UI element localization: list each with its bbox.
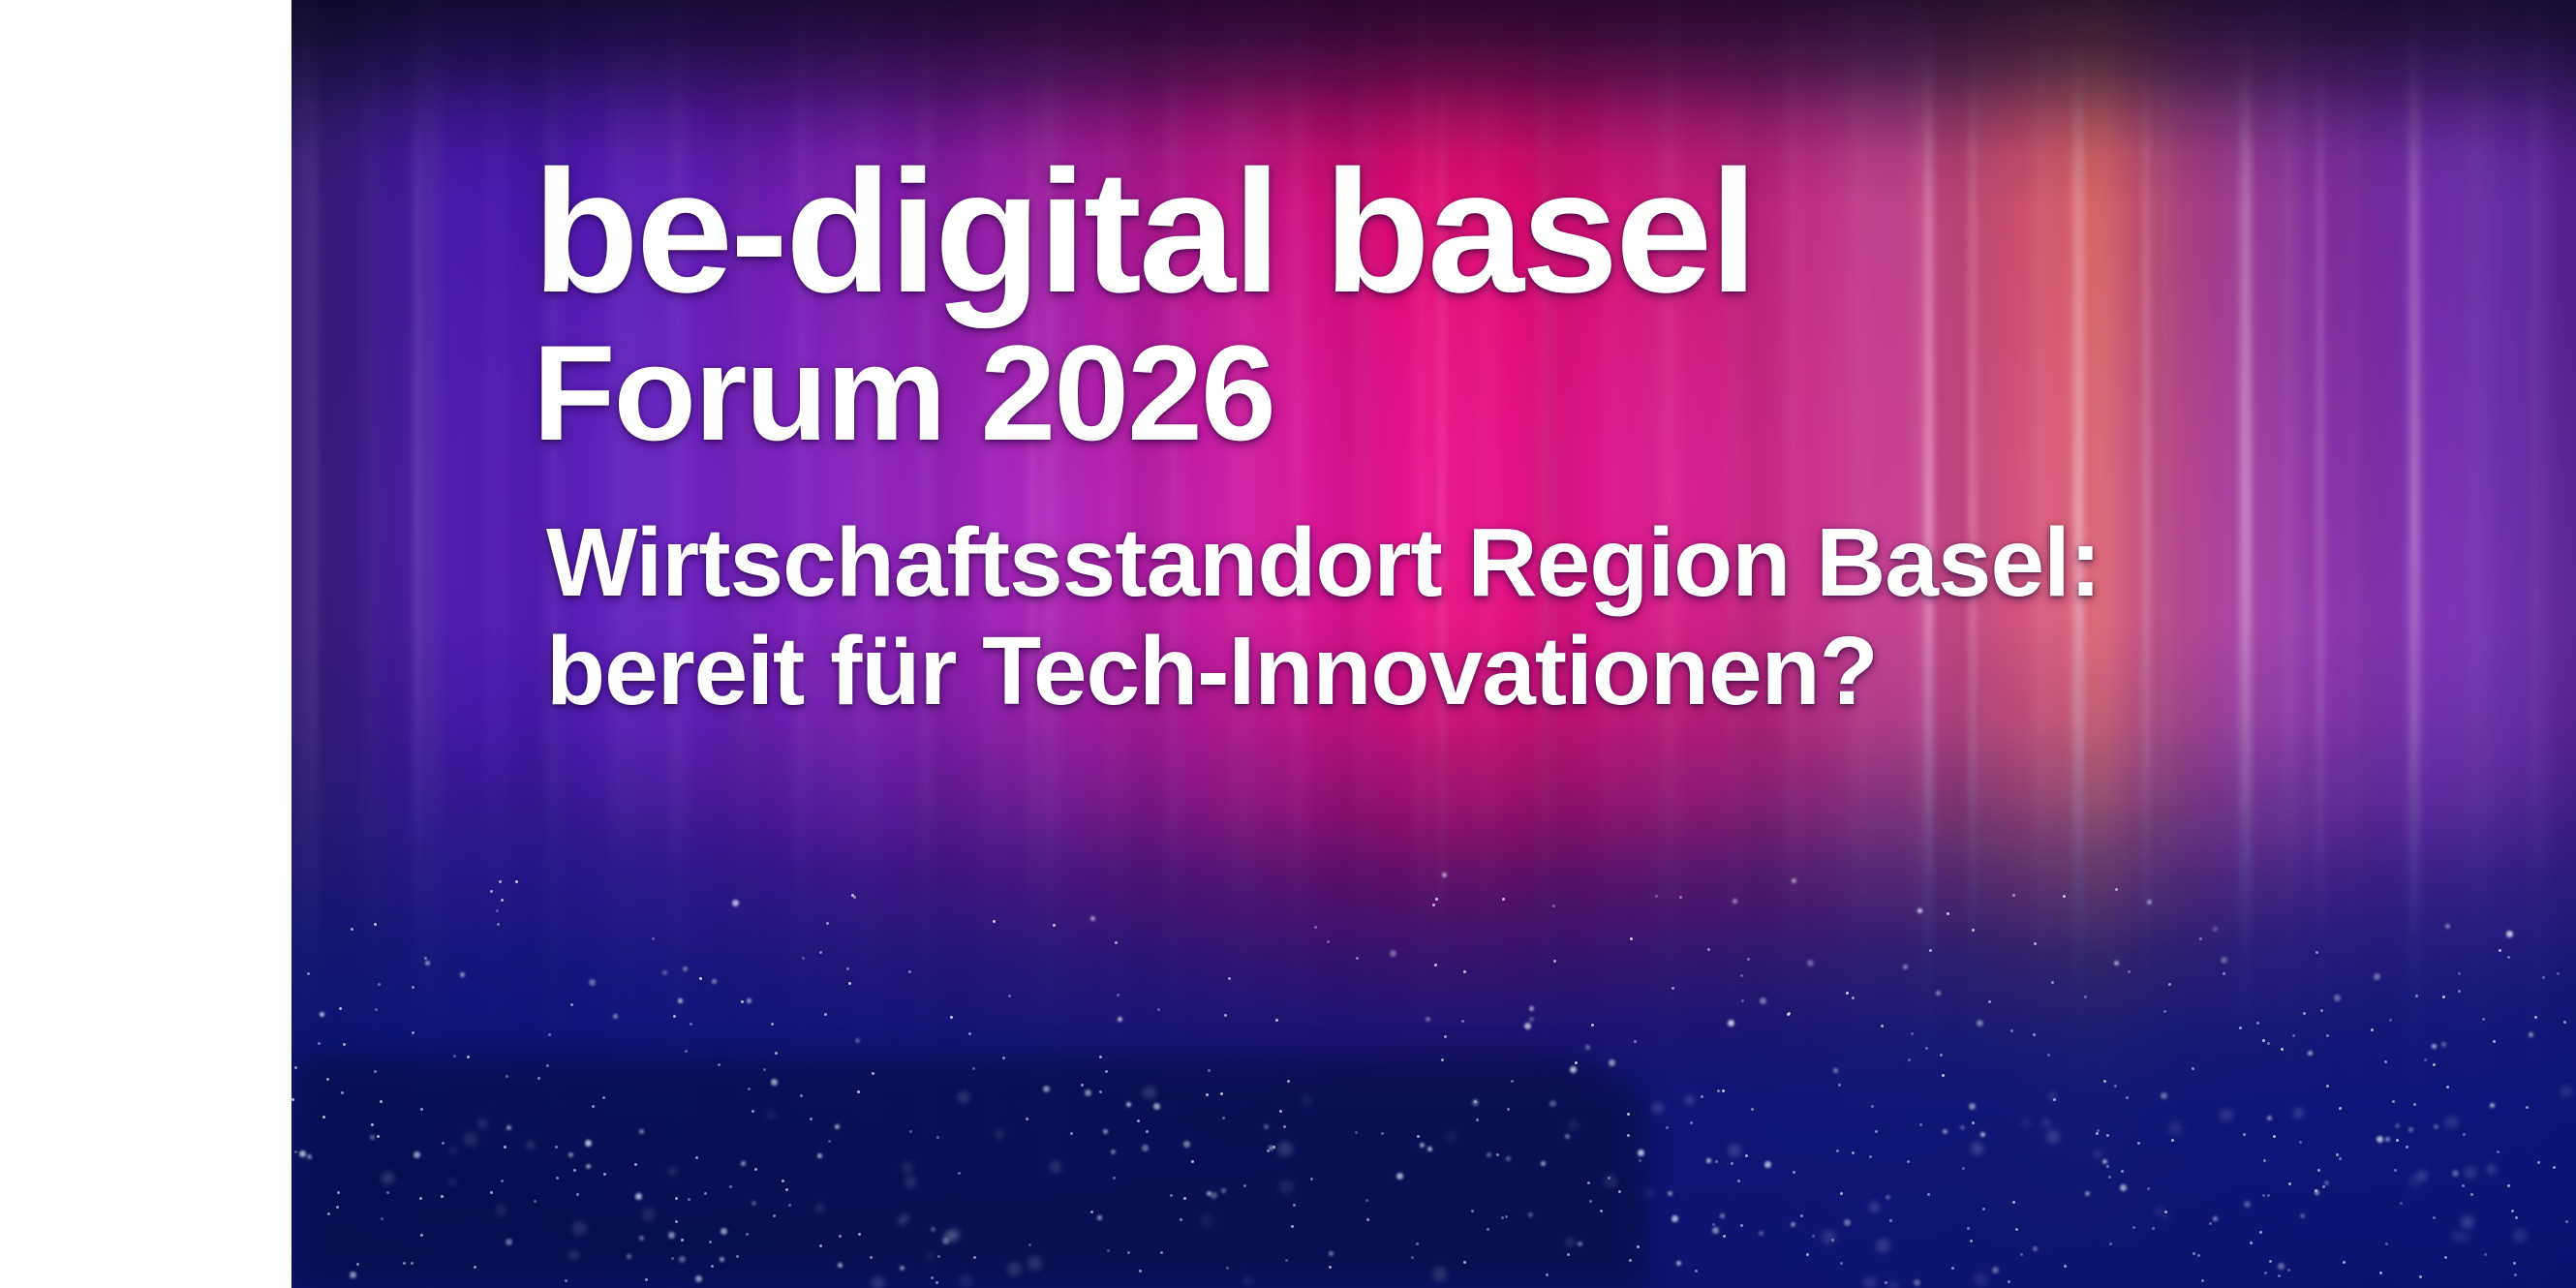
- headline-block: be-digital basel Forum 2026 Wirtschaftss…: [533, 145, 2101, 725]
- background-stage-silhouette: [291, 1056, 1647, 1288]
- slide-root: be-digital basel Forum 2026 Wirtschaftss…: [0, 0, 2576, 1288]
- event-edition-title: Forum 2026: [533, 320, 2101, 466]
- hero-background-panel: be-digital basel Forum 2026 Wirtschaftss…: [291, 0, 2576, 1288]
- event-brand-title: be-digital basel: [533, 145, 2101, 320]
- event-tagline-line-1: Wirtschaftsstandort Region Basel:: [546, 508, 2101, 617]
- left-white-margin: [0, 0, 291, 1288]
- event-tagline: Wirtschaftsstandort Region Basel: bereit…: [546, 508, 2101, 725]
- event-tagline-line-2: bereit für Tech-Innovationen?: [546, 617, 2101, 725]
